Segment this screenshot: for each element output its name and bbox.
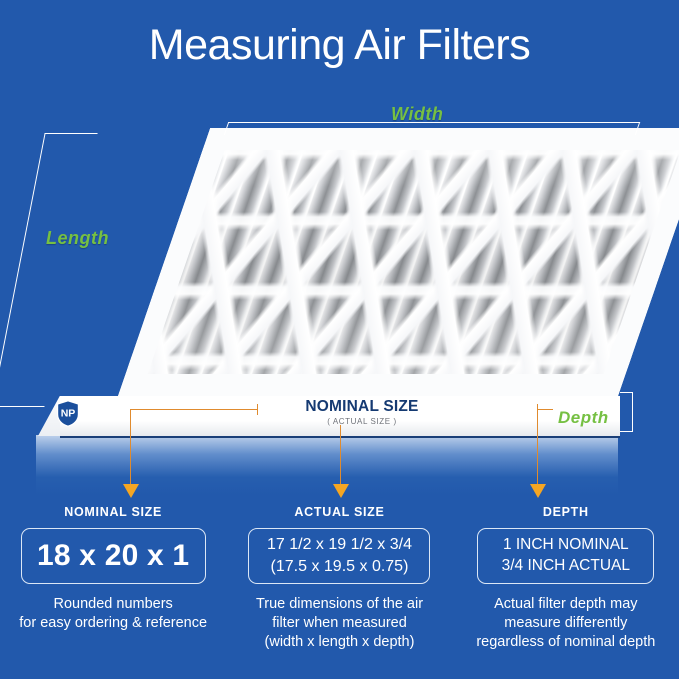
pleated-media-panel: [118, 128, 679, 396]
connector-nominal-tick: [257, 404, 258, 415]
card-depth-title: DEPTH: [461, 505, 671, 519]
card-nominal-note-line-2: for easy ordering & reference: [8, 614, 218, 633]
card-depth: DEPTH 1 INCH NOMINAL 3/4 INCH ACTUAL Act…: [453, 505, 679, 652]
filter-frame-border: [118, 128, 679, 396]
card-actual-value-line-2: (17.5 x 19.5 x 0.75): [271, 556, 409, 578]
card-depth-note: Actual filter depth may measure differen…: [461, 595, 671, 652]
page-title: Measuring Air Filters: [0, 22, 679, 69]
infographic-page: Measuring Air Filters Width Length Depth…: [0, 0, 679, 679]
card-actual-note: True dimensions of the air filter when m…: [234, 595, 444, 652]
connector-actual-arrow: [333, 484, 349, 498]
summary-cards: NOMINAL SIZE 18 x 20 x 1 Rounded numbers…: [0, 505, 679, 652]
card-actual-value-line-1: 17 1/2 x 19 1/2 x 3/4: [267, 534, 412, 556]
np-shield-logo: NP: [56, 400, 80, 427]
edge-caption-sub: ( ACTUAL SIZE ): [262, 417, 462, 426]
card-nominal-note-line-1: Rounded numbers: [8, 595, 218, 614]
connector-nominal-horizontal: [130, 409, 258, 410]
connector-actual-vertical: [340, 425, 341, 488]
length-label: Length: [46, 228, 109, 249]
card-nominal-value-box: 18 x 20 x 1: [21, 528, 206, 584]
connector-depth-arrow: [530, 484, 546, 498]
filter-top-face: [0, 110, 679, 410]
card-depth-value-line-1: 1 INCH NOMINAL: [503, 535, 629, 556]
width-label: Width: [391, 104, 443, 125]
card-depth-value-line-2: 3/4 INCH ACTUAL: [502, 556, 630, 577]
card-actual-note-line-2: filter when measured: [234, 614, 444, 633]
card-actual-note-line-1: True dimensions of the air: [234, 595, 444, 614]
connector-depth-vertical: [537, 409, 538, 488]
card-depth-note-line-1: Actual filter depth may: [461, 595, 671, 614]
edge-nominal-size-caption: NOMINAL SIZE ( ACTUAL SIZE ): [262, 399, 462, 426]
card-nominal-note: Rounded numbers for easy ordering & refe…: [8, 595, 218, 633]
depth-label: Depth: [558, 408, 609, 428]
connector-nominal-arrow: [123, 484, 139, 498]
connector-depth-horizontal: [537, 409, 553, 410]
card-depth-note-line-2: measure differently: [461, 614, 671, 633]
card-depth-note-line-3: regardless of nominal depth: [461, 633, 671, 652]
card-nominal-title: NOMINAL SIZE: [8, 505, 218, 519]
depth-bracket: [620, 392, 633, 432]
card-nominal-value: 18 x 20 x 1: [37, 539, 189, 573]
edge-caption-main: NOMINAL SIZE: [262, 399, 462, 415]
card-depth-value-box: 1 INCH NOMINAL 3/4 INCH ACTUAL: [477, 528, 654, 584]
connector-nominal-vertical: [130, 409, 131, 488]
card-actual-note-line-3: (width x length x depth): [234, 633, 444, 652]
np-logo-text: NP: [61, 408, 76, 420]
card-actual-size: ACTUAL SIZE 17 1/2 x 19 1/2 x 3/4 (17.5 …: [226, 505, 452, 652]
card-actual-value-box: 17 1/2 x 19 1/2 x 3/4 (17.5 x 19.5 x 0.7…: [248, 528, 430, 584]
card-nominal-size: NOMINAL SIZE 18 x 20 x 1 Rounded numbers…: [0, 505, 226, 652]
card-actual-title: ACTUAL SIZE: [234, 505, 444, 519]
